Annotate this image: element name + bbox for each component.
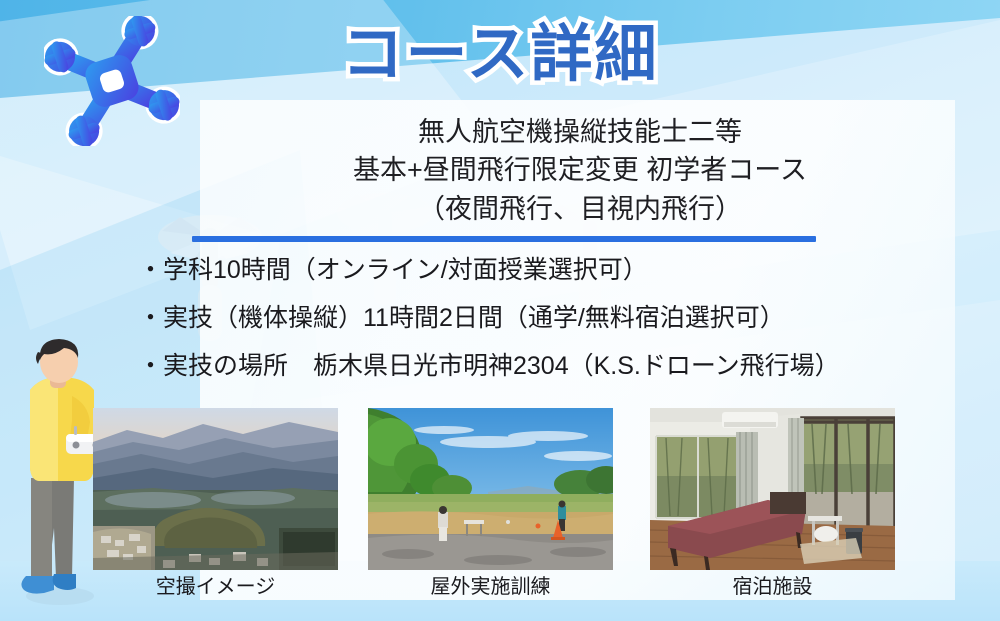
lodging-room-photo	[650, 408, 895, 570]
page-title: コース詳細	[0, 22, 1000, 87]
course-detail-slide: コース詳細 無人航空機操縦技能士二等 基本+昼間飛行限定変更 初学者コース （夜…	[0, 0, 1000, 621]
list-item: ・実技の場所 栃木県日光市明神2304（K.S.ドローン飛行場）	[138, 354, 978, 379]
course-subtitle: 無人航空機操縦技能士二等 基本+昼間飛行限定変更 初学者コース （夜間飛行、目視…	[200, 113, 960, 228]
outdoor-training-field-photo	[368, 408, 613, 570]
course-details-list: ・学科10時間（オンライン/対面授業選択可） ・実技（機体操縦）11時間2日間（…	[138, 258, 978, 402]
photo-gallery	[0, 408, 1000, 573]
photo-caption: 空撮イメージ	[93, 570, 338, 604]
photo-caption: 屋外実施訓練	[368, 570, 613, 604]
aerial-mountain-sunset-photo	[93, 408, 338, 570]
list-item: ・実技（機体操縦）11時間2日間（通学/無料宿泊選択可）	[138, 306, 978, 331]
list-item: ・学科10時間（オンライン/対面授業選択可）	[138, 258, 978, 283]
photo-caption: 宿泊施設	[650, 570, 895, 604]
section-divider	[192, 236, 816, 242]
photo-captions: 空撮イメージ 屋外実施訓練 宿泊施設	[0, 570, 1000, 606]
